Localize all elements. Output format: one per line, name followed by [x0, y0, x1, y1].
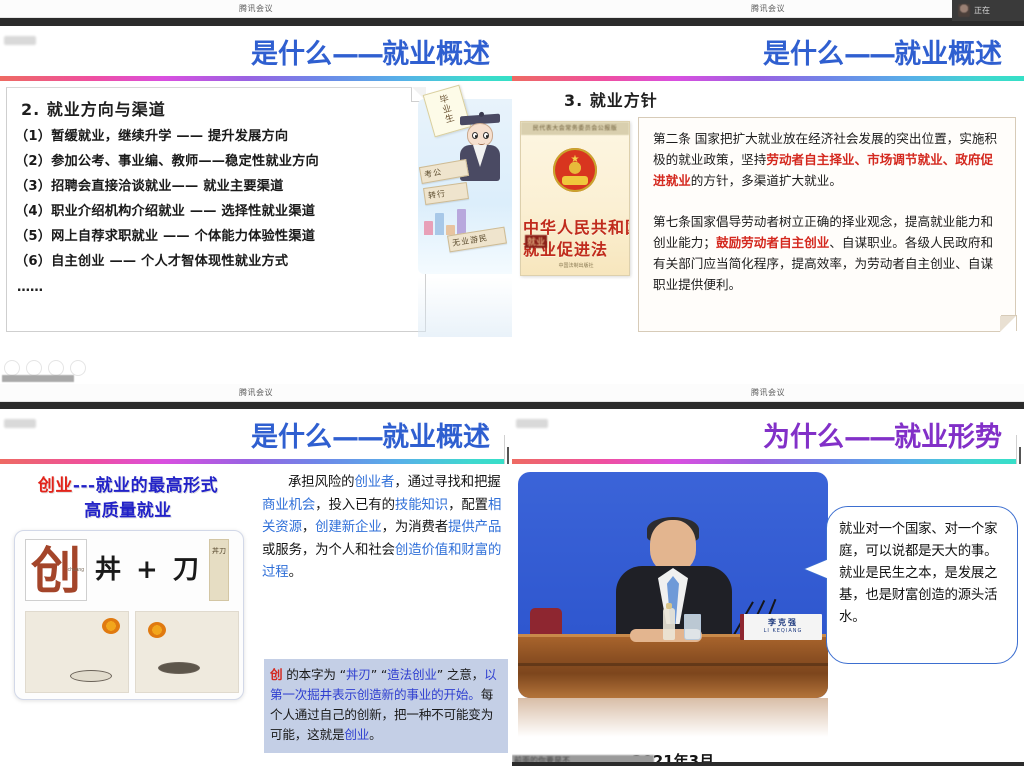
para-seg: ，配置 [448, 498, 488, 513]
bubble-tail [805, 559, 829, 579]
etymology-note-box: 创 的本字为 “丼刃” “造法创业” 之意，以第一次掘井表示创造新的事业的开始。… [264, 659, 508, 753]
slide-title-dash: —— [332, 39, 382, 70]
para-seg: ， [302, 520, 315, 535]
slide-annotation-toolbar-1[interactable] [4, 360, 86, 376]
slide-title-dash: —— [844, 422, 894, 453]
para-seg: 承担风险的 [288, 475, 354, 490]
law-text-plain: 的方针，多渠道扩大就业。 [691, 173, 842, 188]
water-bottle-icon [663, 608, 675, 640]
entrepreneurship-left-column: 创业---就业的最高形式 高质量就业 创 chuàng 丼 + 刀 丼刀 [0, 464, 256, 766]
note-seg: ” 之意， [437, 667, 484, 682]
title-text-blue-1: ---就业的最高形式 [73, 476, 218, 496]
definition-paragraph: 承担风险的创业者，通过寻找和把握商业机会，投入已有的技能知识，配置相关资源，创建… [262, 472, 506, 585]
seal-script-strip: 丼刀 [209, 539, 229, 601]
law-book-cover-image: 民代表大会常务委员会公报版 中华人民共和国 就业促进法 就业 中国法制出版社 [520, 121, 630, 276]
press-conference-photo: 李克强 LI KEQIANG [518, 472, 828, 698]
title-keyword-red: 创业 [38, 476, 73, 496]
para-seg: ，投入已有的 [315, 498, 395, 513]
para-seg-highlight: 创建新企业 [315, 520, 381, 535]
slide-body-4: 李克强 LI KEQIANG 2021年3月 就业对一个国家、对一个家庭，可以说… [512, 464, 1024, 766]
slide-header-2: 是什么——就业概述 [512, 26, 1024, 76]
etymology-illustration-left [25, 611, 129, 693]
entrepreneurship-title: 创业---就业的最高形式 高质量就业 [0, 474, 256, 524]
panel-bottom-black-strip-4 [512, 762, 1024, 766]
presenter-name-badge-1 [4, 36, 36, 45]
note-seg-blue: 创业 [344, 727, 369, 742]
slide-title-part-b: 就业概述 [894, 39, 1002, 70]
graduate-illustration: 毕业生 考公 转行 无业游民 [418, 81, 512, 341]
participant-panel-3[interactable]: 腾讯会议 是什么——就业概述 创业---就业的最高形式 高质量就业 [0, 384, 512, 767]
entrepreneurship-right-column: 承担风险的创业者，通过寻找和把握商业机会，投入已有的技能知识，配置相关资源，创建… [256, 464, 512, 766]
slide-title-part-b: 就业形势 [894, 422, 1002, 453]
title-text-blue-2: 高质量就业 [84, 501, 172, 521]
slide-title-part-a: 是什么 [763, 39, 844, 70]
speaker-nameplate: 李克强 LI KEQIANG [740, 614, 822, 640]
quote-speech-bubble: 就业对一个国家、对一个家庭，可以说都是天大的事。 就业是民生之本，是发展之基，也… [826, 506, 1018, 664]
presenter-name-badge-3 [4, 419, 36, 428]
character-etymology-card: 创 chuàng 丼 + 刀 丼刀 [14, 530, 244, 700]
slide-title-dash: —— [332, 422, 382, 453]
para-seg: 或服务，为个人和社会 [262, 543, 395, 558]
shape-icon[interactable] [48, 360, 64, 376]
etymology-illustration-right [135, 611, 239, 693]
note-seg-blue: 丼刃 [346, 667, 371, 682]
slide-title-2: 是什么——就业概述 [763, 32, 1002, 71]
note-seg: 的本字为 “ [282, 667, 346, 682]
presenter-name-badge-4 [516, 419, 548, 428]
pen-icon[interactable] [4, 360, 20, 376]
panel-top-black-strip-1 [0, 18, 512, 26]
para-seg-highlight: 商业机会 [262, 498, 315, 513]
slide-title-4: 为什么——就业形势 [763, 415, 1002, 454]
character-formula: 丼 + 刀 [95, 549, 202, 586]
diploma-scroll-text: 毕业生 [436, 93, 456, 125]
self-view-label: 正在 [974, 5, 990, 16]
meeting-title-label: 腾讯会议 [239, 3, 273, 14]
slide-1: 是什么——就业概述 2. 就业方向与渠道 （1）暂缓就业，继续升学 —— 提升发… [0, 26, 512, 384]
meeting-title-label: 腾讯会议 [751, 3, 785, 14]
slide-3: 是什么——就业概述 创业---就业的最高形式 高质量就业 创 chuàng [0, 409, 512, 766]
law-text-emphasis: 鼓励劳动者自主创业 [716, 235, 829, 250]
well-icon [70, 670, 112, 682]
slide-header-1: 是什么——就业概述 [0, 26, 512, 76]
meeting-titlebar-4: 腾讯会议 [512, 384, 1024, 402]
note-seg: ” “ [371, 667, 387, 682]
para-seg: 。 [289, 565, 302, 580]
list-item: （5）网上自荐求职就业 —— 个体能力体验性渠道 [15, 224, 425, 249]
water-glass-icon [684, 614, 701, 640]
photo-reflection [518, 698, 828, 750]
para-seg: ，为消费者 [382, 520, 448, 535]
note-seg-blue: 造法创业 [387, 667, 437, 682]
slide-title-part-b: 就业概述 [382, 39, 490, 70]
panel-top-black-strip-2 [512, 18, 1024, 26]
section-heading-2: 3. 就业方针 [564, 87, 1024, 111]
slide-title-part-a: 是什么 [251, 422, 332, 453]
slide-title-1: 是什么——就业概述 [251, 32, 490, 71]
pinyin-text: chuàng [68, 539, 84, 601]
meeting-titlebar-1: 腾讯会议 [0, 0, 512, 18]
note-seg-red: 创 [270, 667, 282, 682]
participant-panel-4[interactable]: 腾讯会议 为什么——就业形势 [512, 384, 1024, 767]
meeting-titlebar-2: 腾讯会议 [512, 0, 1024, 18]
sun-icon [148, 622, 166, 638]
slide-title-dash: —— [844, 39, 894, 70]
ellipsis-text: …… [17, 280, 425, 295]
participant-panel-2[interactable]: 腾讯会议 正在 是什么——就业概述 3. 就业方针 民代表大会常务委员会公报版 … [512, 0, 1024, 384]
slide-title-part-b: 就业概述 [382, 422, 490, 453]
list-item: （3）招聘会直接洽谈就业—— 就业主要渠道 [15, 174, 425, 199]
panel-top-black-strip-4 [512, 402, 1024, 409]
para-seg-highlight: 技能知识 [395, 498, 448, 513]
bar-chart-decoration [422, 205, 474, 235]
national-emblem-icon [553, 148, 597, 192]
slide-body-1: 2. 就业方向与渠道 （1）暂缓就业，继续升学 —— 提升发展方向 （2）参加公… [0, 81, 512, 384]
list-item: （6）自主创业 —— 个人才智体现性就业方式 [15, 249, 425, 274]
slide-header-4: 为什么——就业形势 [512, 409, 1024, 459]
slide-body-2: 3. 就业方针 民代表大会常务委员会公报版 中华人民共和国 就业促进法 就业 中… [512, 87, 1024, 384]
meeting-titlebar-3: 腾讯会议 [0, 384, 512, 402]
illustration-reflection [418, 277, 512, 337]
law-paragraph-1: 第二条 国家把扩大就业放在经济社会发展的突出位置，实施积极的就业政策，坚持劳动者… [653, 128, 1001, 191]
note-seg: 。 [369, 727, 381, 742]
law-paragraph-2: 第七条国家倡导劳动者树立正确的择业观念，提高就业能力和创业能力；鼓励劳动者自主创… [653, 211, 1001, 295]
para-seg: ，通过寻找和把握 [394, 475, 500, 490]
sun-icon [102, 618, 120, 634]
para-seg-highlight: 提供产品 [448, 520, 501, 535]
panel-status-strip-1 [2, 375, 74, 382]
law-text-card: 第二条 国家把扩大就业放在经济社会发展的突出位置，实施积极的就业政策，坚持劳动者… [638, 117, 1016, 332]
slide-title-part-a: 为什么 [763, 422, 844, 453]
section-heading-1: 2. 就业方向与渠道 [21, 96, 425, 120]
nameplate-chinese: 李克强 [744, 617, 822, 628]
list-item: （4）职业介绍机构介绍就业 —— 选择性就业渠道 [15, 199, 425, 224]
panel-top-black-strip-3 [0, 402, 512, 409]
podium-desk [518, 634, 828, 698]
participant-panel-1[interactable]: 腾讯会议 是什么——就业概述 2. 就业方向与渠道 （1）暂缓就业，继续升学 —… [0, 0, 512, 384]
nameplate-english: LI KEQIANG [744, 628, 822, 634]
book-top-strip-text: 民代表大会常务委员会公报版 [521, 122, 629, 135]
slide-accent-bar-2 [512, 76, 1024, 81]
quote-text: 就业对一个国家、对一个家庭，可以说都是天大的事。 就业是民生之本，是发展之基，也… [839, 519, 1007, 629]
highlighter-icon[interactable] [26, 360, 42, 376]
slide-body-3: 创业---就业的最高形式 高质量就业 创 chuàng 丼 + 刀 丼刀 [0, 464, 512, 766]
face-icon [467, 123, 493, 147]
book-publisher-text: 中国法制出版社 [521, 262, 630, 269]
meeting-title-label: 腾讯会议 [239, 387, 273, 398]
head-icon [650, 520, 696, 572]
slide-title-part-a: 是什么 [251, 39, 332, 70]
slide-4: 为什么——就业形势 [512, 409, 1024, 766]
slide-title-3: 是什么——就业概述 [251, 415, 490, 454]
chinese-character-glyph: 创 chuàng [25, 539, 87, 601]
self-view-thumbnail[interactable]: 正在 [952, 0, 1024, 21]
para-seg-highlight: 创业者 [354, 475, 394, 490]
content-card-1: 2. 就业方向与渠道 （1）暂缓就业，继续升学 —— 提升发展方向 （2）参加公… [6, 87, 426, 332]
slide-header-3: 是什么——就业概述 [0, 409, 512, 459]
meeting-grid: 腾讯会议 是什么——就业概述 2. 就业方向与渠道 （1）暂缓就业，继续升学 —… [0, 0, 1024, 767]
eraser-icon[interactable] [70, 360, 86, 376]
slide-2: 是什么——就业概述 3. 就业方针 民代表大会常务委员会公报版 中华人民共和国 … [512, 26, 1024, 384]
meeting-title-label: 腾讯会议 [751, 387, 785, 398]
list-item: （1）暂缓就业，继续升学 —— 提升发展方向 [15, 124, 425, 149]
book-highlight-mark: 就业 [525, 235, 547, 248]
list-item: （2）参加公考、事业编、教师——稳定性就业方向 [15, 149, 425, 174]
avatar [958, 4, 970, 17]
bullet-list-1: （1）暂缓就业，继续升学 —— 提升发展方向 （2）参加公考、事业编、教师——稳… [15, 124, 425, 274]
well-icon [158, 662, 200, 674]
